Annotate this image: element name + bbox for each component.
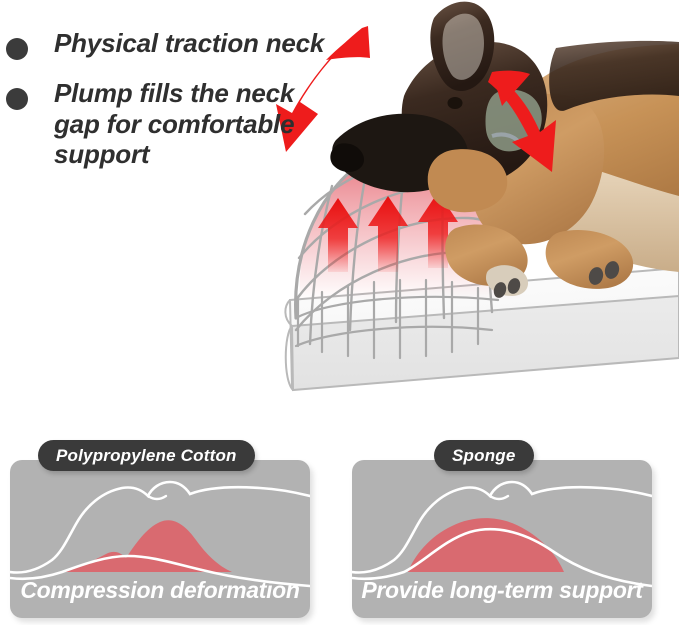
- hero-section: Physical traction neck Plump fills the n…: [0, 0, 679, 420]
- bullet-dot-icon: [6, 88, 28, 110]
- caption-provide-long-term-support: Provide long-term support: [352, 577, 652, 604]
- bullet-label: Physical traction neck: [54, 28, 330, 59]
- feature-bullet-list: Physical traction neck Plump fills the n…: [0, 28, 330, 188]
- list-item: Physical traction neck: [0, 28, 330, 60]
- bullet-dot-icon: [6, 38, 28, 60]
- badge-sponge: Sponge: [434, 440, 534, 471]
- bolster-lift-arrows: [318, 192, 458, 272]
- panel-polypropylene-cotton: Compression deformation: [10, 460, 310, 618]
- bullet-label: Plump fills the neck gap for comfortable…: [54, 78, 330, 170]
- comparison-section: Polypropylene Cotton Compression deforma…: [0, 440, 679, 625]
- cushion-fill-shape: [64, 520, 232, 572]
- list-item: Plump fills the neck gap for comfortable…: [0, 78, 330, 170]
- caption-compression-deformation: Compression deformation: [10, 577, 310, 604]
- panel-sponge: Provide long-term support: [352, 460, 652, 618]
- infographic-root: Physical traction neck Plump fills the n…: [0, 0, 679, 625]
- badge-polypropylene-cotton: Polypropylene Cotton: [38, 440, 255, 471]
